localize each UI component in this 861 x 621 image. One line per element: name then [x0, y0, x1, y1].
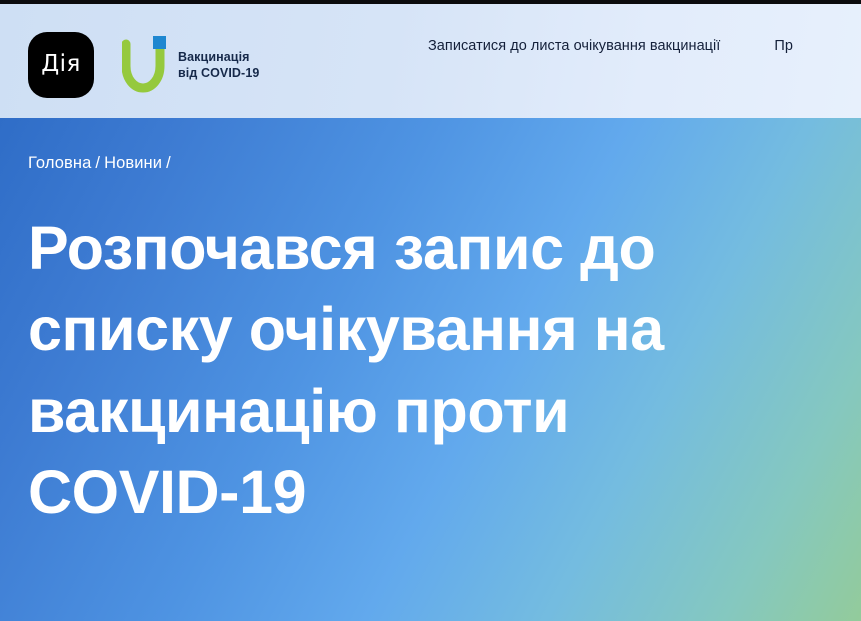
nav-link-secondary-clipped[interactable]: Пр [774, 37, 793, 56]
green-v-checkmark-icon [122, 36, 168, 94]
nav-link-waiting-list[interactable]: Записатися до листа очікування вакцинаці… [428, 37, 720, 56]
vaccination-label: Вакцинація від COVID-19 [178, 49, 259, 81]
header-inner: Дія Вакцинація від COVID-19 Записатися д… [0, 4, 861, 118]
breadcrumb-separator-1: / [91, 154, 104, 172]
page-title-line-1: Розпочався запис до [28, 208, 840, 289]
breadcrumb: Головна/Новини/ [28, 154, 861, 174]
page-title-line-3: вакцинацію проти [28, 371, 840, 452]
page-title: Розпочався запис до списку очікування на… [28, 208, 840, 534]
vaccination-label-line2: від COVID-19 [178, 66, 259, 80]
hero-content: Головна/Новини/ Розпочався запис до спис… [28, 118, 861, 574]
site-header: Дія Вакцинація від COVID-19 Записатися д… [0, 4, 861, 118]
vaccination-label-line1: Вакцинація [178, 50, 250, 64]
breadcrumb-item-news[interactable]: Новини [104, 154, 162, 172]
page-root: Дія Вакцинація від COVID-19 Записатися д… [0, 0, 861, 621]
vaccination-brand-lockup[interactable]: Вакцинація від COVID-19 [122, 33, 259, 97]
header-nav: Записатися до листа очікування вакцинаці… [428, 37, 793, 56]
page-title-line-4: COVID-19 [28, 452, 840, 533]
diia-logo[interactable]: Дія [28, 32, 94, 98]
breadcrumb-separator-2: / [162, 154, 175, 172]
diia-logo-label: Дія [41, 53, 80, 76]
breadcrumb-item-home[interactable]: Головна [28, 154, 91, 172]
page-title-line-2: списку очікування на [28, 289, 840, 370]
hero-banner: Головна/Новини/ Розпочався запис до спис… [0, 118, 861, 621]
